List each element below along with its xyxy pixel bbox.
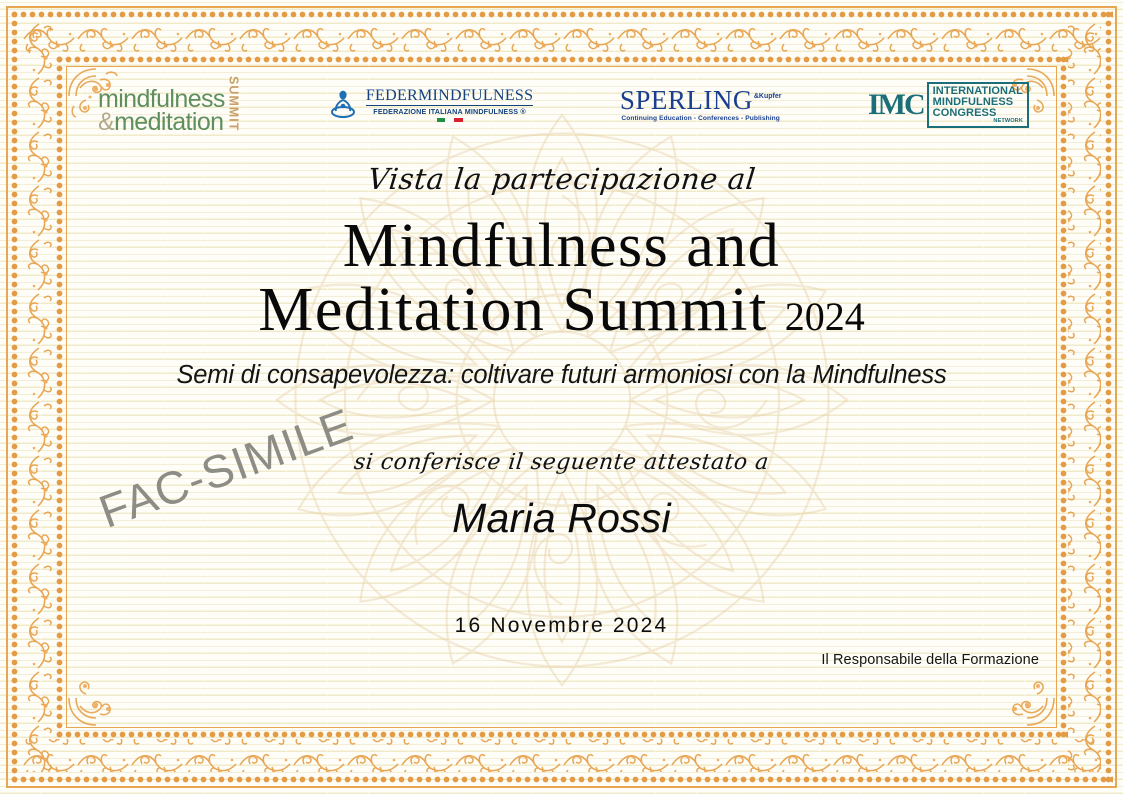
sponsor-logo-row: mindfulness &meditation SUMMIT FEDERMIND… (88, 74, 1035, 136)
event-title-year: 2024 (785, 294, 865, 339)
event-title-line2: Meditation Summit (258, 276, 767, 344)
logo-sperling-wordmark: SPERLING &Kupfer (620, 87, 782, 114)
intro-script-line: Vista la partecipazione al (366, 162, 757, 196)
event-title-line2-wrap: Meditation Summit 2024 (78, 280, 1045, 341)
bead-strip-left (10, 10, 19, 784)
logo-international-mindfulness-congress: IMC INTERNATIONAL MINDFULNESS CONGRESS N… (868, 82, 1029, 128)
signer-label: Il Responsabile della Formazione (821, 652, 1039, 668)
bead-strip-inner-right (1059, 55, 1068, 739)
bead-strip-right (1104, 10, 1113, 784)
logo-sperling: SPERLING &Kupfer Continuing Education - … (620, 87, 782, 123)
logo-fmf-title: FEDERMINDFULNESS (366, 88, 534, 104)
bead-strip-top (10, 10, 1113, 19)
logo-mm-line2: &meditation (98, 111, 225, 134)
event-subtitle: Semi di consapevolezza: coltivare futuri… (78, 361, 1045, 390)
logo-mm-line2-word: meditation (114, 108, 223, 136)
bead-strip-inner-top (55, 55, 1068, 64)
logo-sperling-word: SPERLING (620, 87, 753, 114)
certificate-content: mindfulness &meditation SUMMIT FEDERMIND… (78, 74, 1045, 720)
bead-strip-inner-left (55, 55, 64, 739)
logo-fmf-wordmark: FEDERMINDFULNESS FEDERAZIONE ITALIANA MI… (366, 88, 534, 122)
certificate-body: Vista la partecipazione al Mindfulness a… (78, 162, 1045, 638)
logo-mm-wordmark: mindfulness &meditation (98, 88, 225, 134)
recipient-name: Maria Rossi (78, 495, 1045, 542)
certificate-page: mindfulness &meditation SUMMIT FEDERMIND… (0, 0, 1123, 794)
logo-imc-monogram: IMC (868, 82, 924, 128)
bead-strip-inner-bottom (55, 730, 1068, 739)
intro-line-wrap: Vista la partecipazione al (78, 162, 1045, 196)
logo-mm-vertical-summit: SUMMIT (227, 76, 240, 133)
logo-sperling-tagline: Continuing Education - Conferences - Pub… (621, 116, 780, 123)
logo-mindfulness-meditation-summit: mindfulness &meditation SUMMIT (98, 76, 239, 133)
logo-federmindfulness: FEDERMINDFULNESS FEDERAZIONE ITALIANA MI… (326, 88, 534, 122)
award-script-line: si conferisce il seguente attestato a (353, 450, 770, 475)
logo-fmf-subtitle: FEDERAZIONE ITALIANA MINDFULNESS ® (373, 108, 526, 115)
logo-imc-wordmark: INTERNATIONAL MINDFULNESS CONGRESS NETWO… (927, 82, 1029, 128)
logo-mm-ampersand: & (98, 108, 114, 136)
logo-imc-network: NETWORK (993, 119, 1023, 125)
award-line-wrap: si conferisce il seguente attestato a (78, 390, 1045, 475)
italy-flag-icon (437, 118, 463, 122)
event-title-line1: Mindfulness and (78, 216, 1045, 277)
issue-date: 16 Novembre 2024 (78, 614, 1045, 638)
meditating-figure-icon (326, 88, 360, 122)
bead-strip-bottom (10, 775, 1113, 784)
logo-sperling-superscript: &Kupfer (754, 93, 782, 100)
